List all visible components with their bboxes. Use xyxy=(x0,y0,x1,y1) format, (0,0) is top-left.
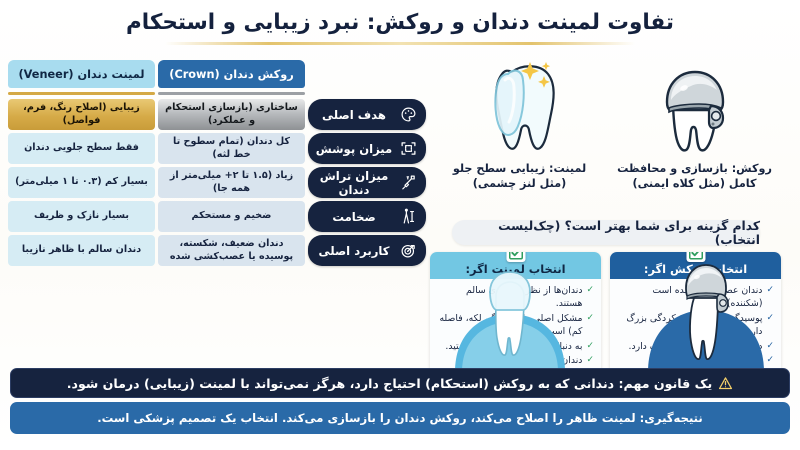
row-label-text: میزان پوشش xyxy=(314,142,394,156)
veneer-illustration-caption: لمینت: زیبایی سطح جلو (مثل لنز چشمی) xyxy=(436,161,604,191)
veneer-caption-line-1: لمینت: زیبایی سطح جلو xyxy=(436,161,604,176)
row-label-main-use: کاربرد اصلی xyxy=(308,235,426,266)
table-row: کاربرد اصلی دندان ضعیف، شکسته، پوسیده یا… xyxy=(8,235,426,266)
table-header-row: روکش دندان (Crown) لمینت دندان (Veneer) xyxy=(8,60,426,88)
checklist-card-crown-body: ✓دندان عصب‌کشی شده است (شکننده). ✓پوسیدگ… xyxy=(610,279,781,375)
table-row: هدف اصلی ساختاری (بازسازی استحکام و عملک… xyxy=(8,99,426,130)
checklist-card-veneer-body: ✓دندان‌ها از نظر ساختاری سالم هستند. ✓مش… xyxy=(430,279,601,375)
check-icon: ✓ xyxy=(586,340,594,354)
row-label-coverage: میزان پوشش xyxy=(308,133,426,164)
list-item: ✓دندان عصب‌کشی شده است (شکننده). xyxy=(617,284,774,311)
crown-caption-line-2: کامل (مثل کلاه ایمنی) xyxy=(611,176,779,191)
crown-illustration-caption: روکش: بازسازی و محافظت کامل (مثل کلاه ای… xyxy=(611,161,779,191)
list-item: ✓دندان شکستگی عمیق یا ترک دارد. xyxy=(617,340,774,354)
list-item: ✓دندان‌ها از نظر ساختاری سالم هستند. xyxy=(437,284,594,311)
list-item-label: به دنبال حداقل تراش ممکن هستید. xyxy=(437,340,582,353)
veneer-illustration-block: لمینت: زیبایی سطح جلو (مثل لنز چشمی) xyxy=(436,55,604,191)
dental-drill-icon xyxy=(399,173,418,192)
row-label-main-goal: هدف اصلی xyxy=(308,99,426,130)
table-header-label-spacer xyxy=(308,60,426,88)
cell-veneer-value: فقط سطح جلویی دندان xyxy=(8,133,155,164)
list-item-label: دندان قروچه شدید دارید. xyxy=(617,354,762,367)
coverage-frame-icon xyxy=(399,139,418,158)
table-row: میزان پوشش کل دندان (تمام سطوح تا خط لثه… xyxy=(8,133,426,164)
row-label-text: ضخامت xyxy=(314,210,394,224)
list-item-label: مشکل اصلی ظاهر (رنگ، لکه، فاصله کم) است. xyxy=(437,312,582,339)
row-label-text: هدف اصلی xyxy=(314,108,394,122)
check-square-icon xyxy=(506,252,525,262)
check-icon: ✓ xyxy=(766,354,774,368)
cell-veneer-value: بسیار کم (۰.۳ تا ۱ میلی‌متر) xyxy=(8,167,155,198)
list-item-label: دندان‌ها عصب‌کشی نشده‌اند. xyxy=(437,354,582,367)
target-icon xyxy=(399,241,418,260)
cell-crown-value: ضخیم و مستحکم xyxy=(158,201,305,232)
caliper-icon xyxy=(399,207,418,226)
list-item: ✓دندان‌ها عصب‌کشی نشده‌اند. xyxy=(437,354,594,368)
crown-illustration-block: روکش: بازسازی و محافظت کامل (مثل کلاه ای… xyxy=(611,55,779,191)
tooth-with-veneer-shell-icon xyxy=(436,55,604,159)
infographic-page: تفاوت لمینت دندان و روکش: نبرد زیبایی و … xyxy=(0,0,800,450)
table-row: ضخامت ضخیم و مستحکم بسیار نازک و ظریف xyxy=(8,201,426,232)
check-icon: ✓ xyxy=(586,354,594,368)
cell-crown-value: ساختاری (بازسازی استحکام و عملکرد) xyxy=(158,99,305,130)
list-item: ✓مشکل اصلی ظاهر (رنگ، لکه، فاصله کم) است… xyxy=(437,312,594,339)
checklist-cards: انتخاب لمینت اگر: ✓دندان‌ها از نظر ساختا… xyxy=(430,252,782,375)
veneer-header-accent xyxy=(8,92,155,95)
row-label-text: کاربرد اصلی xyxy=(314,244,394,258)
checklist-card-crown-header: انتخاب روکش اگر: xyxy=(610,252,781,279)
list-item-label: دندان شکستگی عمیق یا ترک دارد. xyxy=(617,340,762,353)
conclusion-banner: نتیجه‌گیری: لمینت ظاهر را اصلاح می‌کند، … xyxy=(10,402,790,434)
page-title: تفاوت لمینت دندان و روکش: نبرد زیبایی و … xyxy=(0,10,800,37)
palette-magic-wand-icon xyxy=(399,105,418,124)
row-label-text: میزان تراش دندان xyxy=(314,169,394,197)
checklist-card-veneer-header: انتخاب لمینت اگر: xyxy=(430,252,601,279)
row-label-thickness: ضخامت xyxy=(308,201,426,232)
tooth-with-helmet-icon xyxy=(611,55,779,159)
list-item-label: دندان عصب‌کشی شده است (شکننده). xyxy=(617,284,762,311)
crown-header-accent xyxy=(158,92,305,95)
checklist-card-crown-title: انتخاب روکش اگر: xyxy=(644,262,747,276)
warning-triangle-icon xyxy=(718,376,733,391)
title-divider xyxy=(165,42,635,45)
crown-caption-line-1: روکش: بازسازی و محافظت xyxy=(611,161,779,176)
list-item: ✓پوسیدگی گسترده یا پرکردگی بزرگ دارد. xyxy=(617,312,774,339)
comparison-table: روکش دندان (Crown) لمینت دندان (Veneer) … xyxy=(8,60,426,269)
cell-veneer-value: زیبایی (اصلاح رنگ، فرم، فواصل) xyxy=(8,99,155,130)
cell-crown-value: کل دندان (تمام سطوح تا خط لثه) xyxy=(158,133,305,164)
cell-veneer-value: دندان سالم با ظاهر نازیبا xyxy=(8,235,155,266)
cell-crown-value: دندان ضعیف، شکسته، پوسیده یا عصب‌کشی شده xyxy=(158,235,305,266)
table-header-veneer: لمینت دندان (Veneer) xyxy=(8,60,155,88)
checklist-heading: کدام گزینه برای شما بهتر است؟ (چک‌لیست ا… xyxy=(452,220,760,245)
veneer-caption-line-2: (مثل لنز چشمی) xyxy=(436,176,604,191)
check-icon: ✓ xyxy=(766,312,774,326)
check-icon: ✓ xyxy=(586,312,594,326)
warning-banner: یک قانون مهم: دندانی که به روکش (استحکام… xyxy=(10,368,790,398)
checklist-card-crown: انتخاب روکش اگر: ✓دندان عصب‌کشی شده است … xyxy=(610,252,781,375)
table-row: میزان تراش دندان زیاد (۱.۵ تا ۲+ میلی‌مت… xyxy=(8,167,426,198)
warning-banner-text: یک قانون مهم: دندانی که به روکش (استحکام… xyxy=(67,376,713,391)
check-icon: ✓ xyxy=(766,340,774,354)
row-label-tooth-reduction: میزان تراش دندان xyxy=(308,167,426,198)
table-header-crown: روکش دندان (Crown) xyxy=(158,60,305,88)
checklist-card-veneer-title: انتخاب لمینت اگر: xyxy=(465,262,565,276)
list-item-label: دندان‌ها از نظر ساختاری سالم هستند. xyxy=(437,284,582,311)
cell-veneer-value: بسیار نازک و ظریف xyxy=(8,201,155,232)
check-icon: ✓ xyxy=(766,284,774,298)
check-square-icon xyxy=(686,252,705,262)
list-item-label: پوسیدگی گسترده یا پرکردگی بزرگ دارد. xyxy=(617,312,762,339)
list-item: ✓دندان قروچه شدید دارید. xyxy=(617,354,774,368)
list-item: ✓به دنبال حداقل تراش ممکن هستید. xyxy=(437,340,594,354)
title-block: تفاوت لمینت دندان و روکش: نبرد زیبایی و … xyxy=(0,10,800,45)
cell-crown-value: زیاد (۱.۵ تا ۲+ میلی‌متر از همه جا) xyxy=(158,167,305,198)
checklist-card-veneer: انتخاب لمینت اگر: ✓دندان‌ها از نظر ساختا… xyxy=(430,252,601,375)
check-icon: ✓ xyxy=(586,284,594,298)
table-header-underline xyxy=(8,92,426,95)
illustration-row: لمینت: زیبایی سطح جلو (مثل لنز چشمی) رو xyxy=(432,55,782,205)
